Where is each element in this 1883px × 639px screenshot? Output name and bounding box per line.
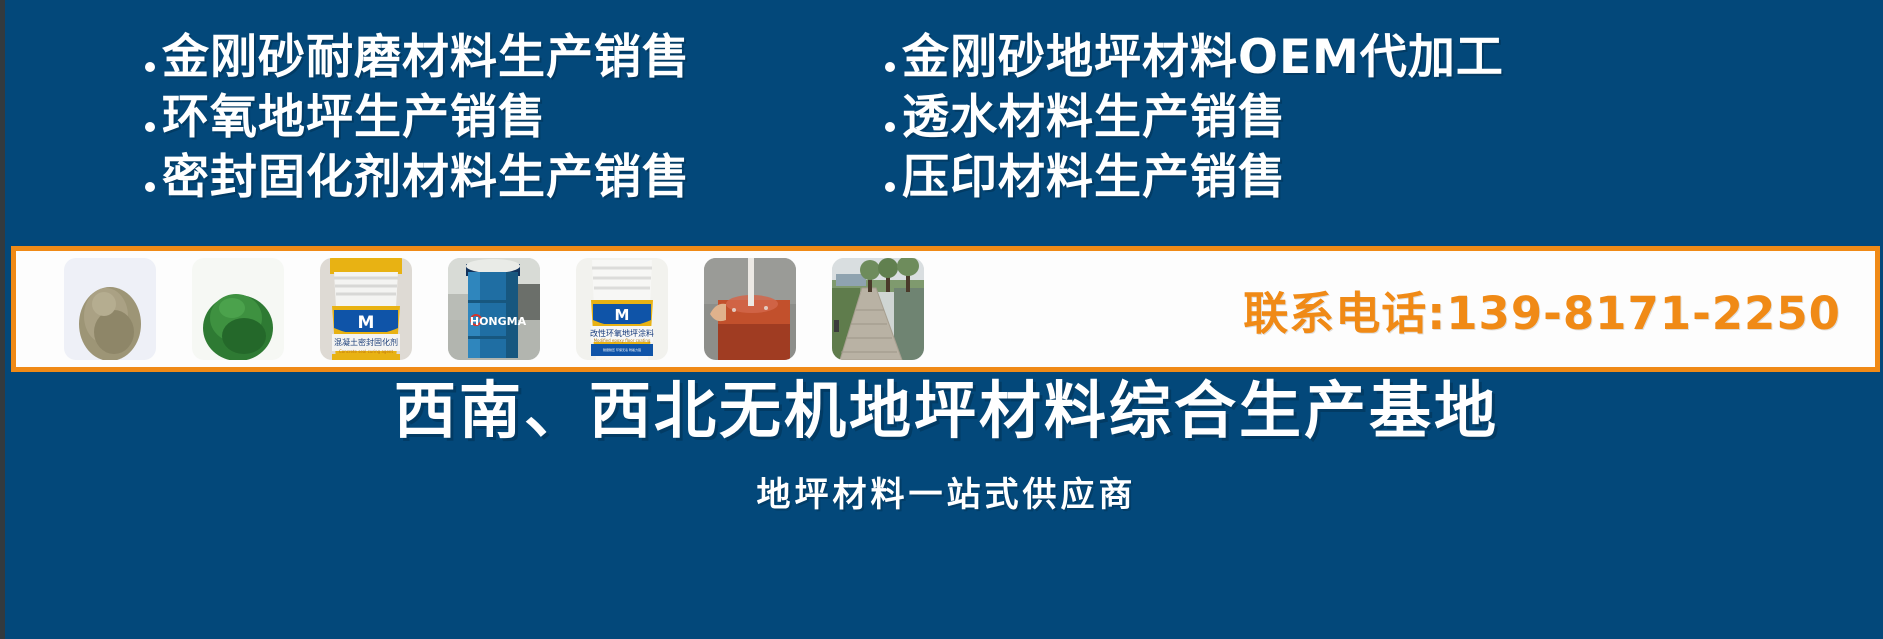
bullet-dot-icon bbox=[885, 122, 895, 132]
subtitle-slogan: 地坪材料一站式供应商 bbox=[5, 467, 1883, 516]
services-right-column: 金刚砂地坪材料OEM代加工 透水材料生产销售 压印材料生产销售 bbox=[875, 34, 1883, 234]
service-label: 密封固化剂材料生产销售 bbox=[162, 154, 690, 201]
svg-text:M: M bbox=[615, 306, 630, 324]
product-photo-epoxy-pail: M 改性环氧地坪涂料 Modified epoxy floor coating … bbox=[576, 258, 668, 360]
service-item: 金刚砂耐磨材料生产销售 bbox=[145, 34, 875, 81]
bullet-dot-icon bbox=[885, 182, 895, 192]
product-photo-sealer-pail: M 混凝土密封固化剂 Concrete seal curing agent bbox=[320, 258, 412, 360]
svg-text:M: M bbox=[358, 313, 375, 333]
product-photo-blue-drum: HONGMA bbox=[448, 258, 540, 360]
advertisement-banner: 金刚砂耐磨材料生产销售 环氧地坪生产销售 密封固化剂材料生产销售 金刚砂地坪材料… bbox=[0, 0, 1883, 639]
bullet-dot-icon bbox=[885, 62, 895, 72]
service-item: 密封固化剂材料生产销售 bbox=[145, 154, 875, 201]
service-item: 透水材料生产销售 bbox=[885, 94, 1883, 141]
service-item: 环氧地坪生产销售 bbox=[145, 94, 875, 141]
service-label: 压印材料生产销售 bbox=[902, 154, 1286, 201]
service-item: 金刚砂地坪材料OEM代加工 bbox=[885, 34, 1883, 81]
services-section: 金刚砂耐磨材料生产销售 环氧地坪生产销售 密封固化剂材料生产销售 金刚砂地坪材料… bbox=[5, 34, 1883, 234]
product-photo-stamped-pathway bbox=[832, 258, 924, 360]
svg-text:混凝土密封固化剂: 混凝土密封固化剂 bbox=[334, 337, 398, 347]
bullet-dot-icon bbox=[145, 62, 155, 72]
product-photo-green-powder bbox=[192, 258, 284, 360]
svg-text:改性环氧地坪涂料: 改性环氧地坪涂料 bbox=[590, 328, 654, 338]
services-left-column: 金刚砂耐磨材料生产销售 环氧地坪生产销售 密封固化剂材料生产销售 bbox=[5, 34, 875, 234]
svg-text:Modified epoxy floor coating: Modified epoxy floor coating bbox=[594, 338, 651, 343]
product-thumbnail-strip: M 混凝土密封固化剂 Concrete seal curing agent bbox=[64, 258, 924, 360]
product-showcase-panel: M 混凝土密封固化剂 Concrete seal curing agent bbox=[11, 246, 1880, 372]
svg-text:Concrete seal curing agent: Concrete seal curing agent bbox=[339, 349, 393, 354]
service-label: 金刚砂地坪材料OEM代加工 bbox=[902, 34, 1504, 81]
svg-text:耐磨耐压 环保无毒 附着力强: 耐磨耐压 环保无毒 附着力强 bbox=[603, 347, 641, 352]
bullet-dot-icon bbox=[145, 182, 155, 192]
service-label: 环氧地坪生产销售 bbox=[162, 94, 546, 141]
service-label: 透水材料生产销售 bbox=[902, 94, 1286, 141]
service-label: 金刚砂耐磨材料生产销售 bbox=[162, 34, 690, 81]
product-photo-permeable-sample bbox=[704, 258, 796, 360]
service-item: 压印材料生产销售 bbox=[885, 154, 1883, 201]
footer-slogans: 西南、西北无机地坪材料综合生产基地 地坪材料一站式供应商 bbox=[5, 378, 1883, 516]
svg-text:HONGMA: HONGMA bbox=[470, 315, 527, 328]
contact-phone[interactable]: 联系电话:139-8171-2250 bbox=[1243, 277, 1841, 342]
product-photo-abrasive-powder bbox=[64, 258, 156, 360]
headline-slogan: 西南、西北无机地坪材料综合生产基地 bbox=[5, 378, 1883, 443]
bullet-dot-icon bbox=[145, 122, 155, 132]
